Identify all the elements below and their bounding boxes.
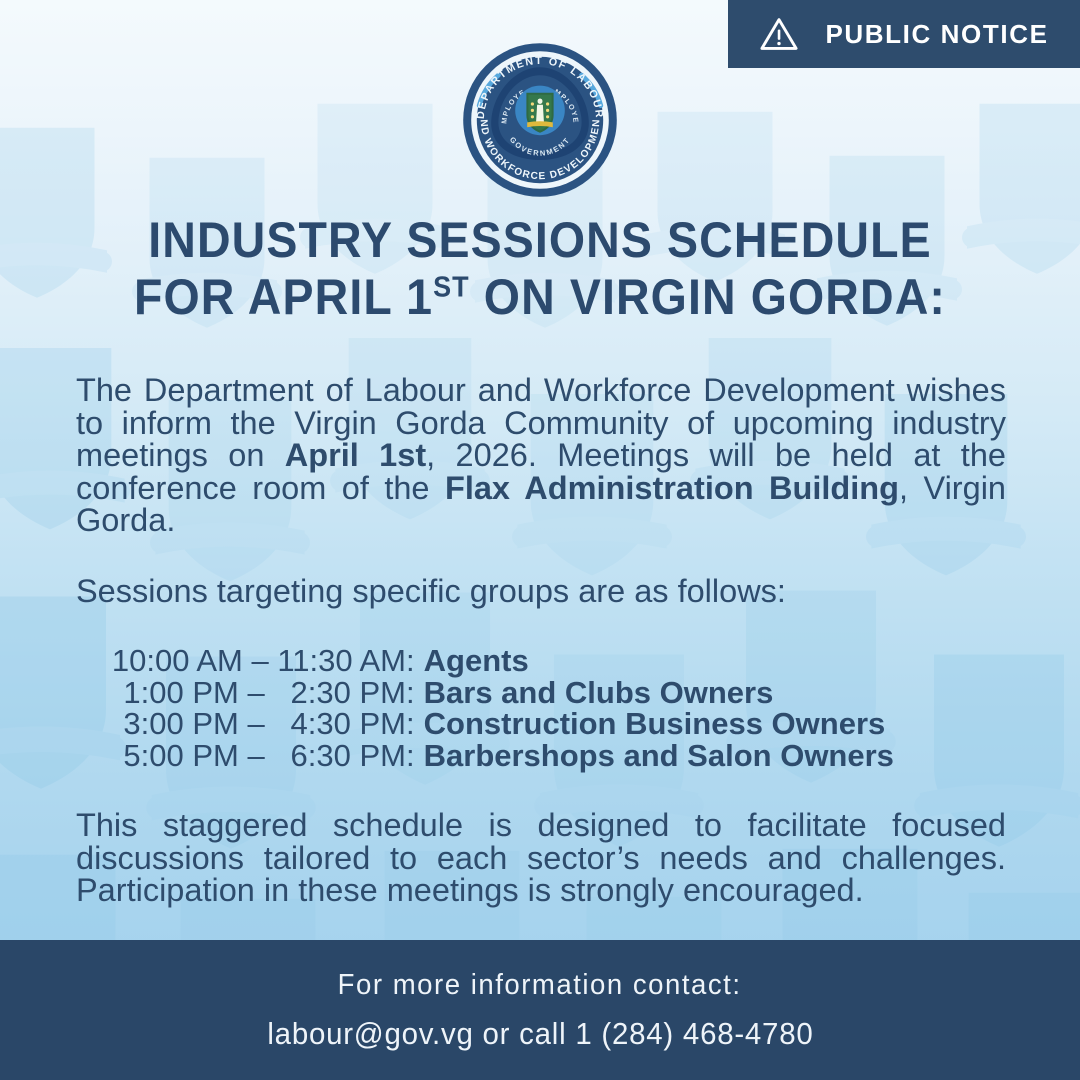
schedule-separator: : xyxy=(406,677,415,709)
seal-container: DEPARTMENT OF LABOUR AND WORKFORCE DEVEL… xyxy=(0,40,1080,205)
footer-contact-prompt: For more information contact: xyxy=(338,969,742,1002)
schedule-time-range: 1:00 PM – 2:30 PM xyxy=(76,677,406,709)
spacer xyxy=(76,607,1006,645)
schedule-row: 5:00 PM – 6:30 PM:Barbershops and Salon … xyxy=(76,740,1006,772)
body-content: The Department of Labour and Workforce D… xyxy=(76,374,1006,907)
closing-paragraph: This staggered schedule is designed to f… xyxy=(76,809,1006,907)
schedule-row: 1:00 PM – 2:30 PM:Bars and Clubs Owners xyxy=(76,677,1006,709)
schedule-group-name: Bars and Clubs Owners xyxy=(415,677,774,709)
intro-paragraph: The Department of Labour and Workforce D… xyxy=(76,374,1006,537)
spacer xyxy=(76,771,1006,809)
schedule-row: 10:00 AM – 11:30 AM:Agents xyxy=(76,645,1006,677)
schedule-time-range: 10:00 AM – 11:30 AM xyxy=(76,645,406,677)
public-notice-poster: PUBLIC NOTICE xyxy=(0,0,1080,1080)
title-line-2-before: FOR APRIL 1 xyxy=(134,269,433,325)
spacer xyxy=(76,537,1006,575)
title-line-2: FOR APRIL 1ST ON VIRGIN GORDA: xyxy=(38,269,1042,326)
schedule-row: 3:00 PM – 4:30 PM:Construction Business … xyxy=(76,708,1006,740)
department-of-labour-seal: DEPARTMENT OF LABOUR AND WORKFORCE DEVEL… xyxy=(460,40,620,205)
schedule-separator: : xyxy=(406,708,415,740)
page-title: INDUSTRY SESSIONS SCHEDULE FOR APRIL 1ST… xyxy=(38,212,1042,326)
intro-bold-venue: Flax Administration Building xyxy=(445,470,899,506)
lead-in-paragraph: Sessions targeting specific groups are a… xyxy=(76,575,1006,608)
contact-footer: For more information contact: labour@gov… xyxy=(0,940,1080,1080)
schedule-time-range: 5:00 PM – 6:30 PM xyxy=(76,740,406,772)
schedule-separator: : xyxy=(406,740,415,772)
schedule-time-range: 3:00 PM – 4:30 PM xyxy=(76,708,406,740)
footer-contact-details: labour@gov.vg or call 1 (284) 468-4780 xyxy=(267,1016,813,1052)
intro-bold-date: April 1st xyxy=(285,437,426,473)
schedule-group-name: Agents xyxy=(415,645,529,677)
title-line-2-after: ON VIRGIN GORDA: xyxy=(470,269,946,325)
session-schedule-list: 10:00 AM – 11:30 AM:Agents1:00 PM – 2:30… xyxy=(76,645,1006,771)
schedule-group-name: Barbershops and Salon Owners xyxy=(415,740,894,772)
title-line-1: INDUSTRY SESSIONS SCHEDULE xyxy=(38,212,1042,269)
schedule-group-name: Construction Business Owners xyxy=(415,708,886,740)
schedule-separator: : xyxy=(406,645,415,677)
title-ordinal-suffix: ST xyxy=(433,271,470,303)
